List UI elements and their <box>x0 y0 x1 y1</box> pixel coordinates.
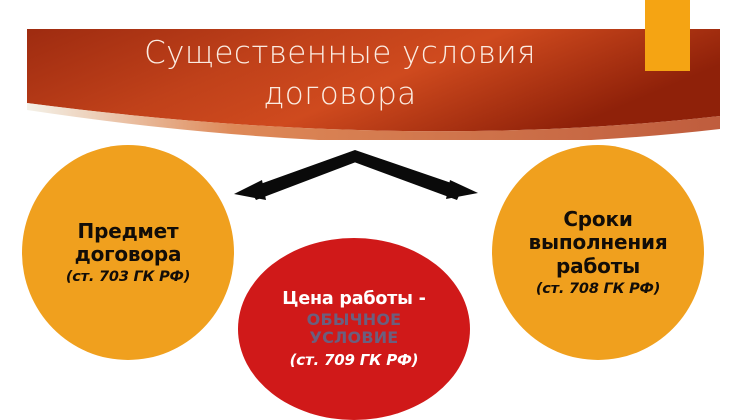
node-price-reference: (ст. 709 ГК РФ) <box>290 351 419 369</box>
slide-canvas: Существенные условия договора Предмет до… <box>0 0 750 420</box>
node-price-subtitle-line-1: ОБЫЧНОЕ <box>307 311 402 329</box>
arrow-to-right-node-shaft <box>354 150 463 200</box>
node-work-price[interactable]: Цена работы - ОБЫЧНОЕ УСЛОВИЕ (ст. 709 Г… <box>238 238 470 420</box>
arrow-to-left-node-shaft <box>249 150 356 200</box>
arrow-to-right-node-head <box>446 180 478 199</box>
arrow-to-left-node-head <box>234 180 266 200</box>
node-price-subtitle: ОБЫЧНОЕ УСЛОВИЕ <box>307 311 402 347</box>
node-price-subtitle-line-2: УСЛОВИЕ <box>307 329 402 347</box>
node-price-title: Цена работы - <box>282 289 425 309</box>
